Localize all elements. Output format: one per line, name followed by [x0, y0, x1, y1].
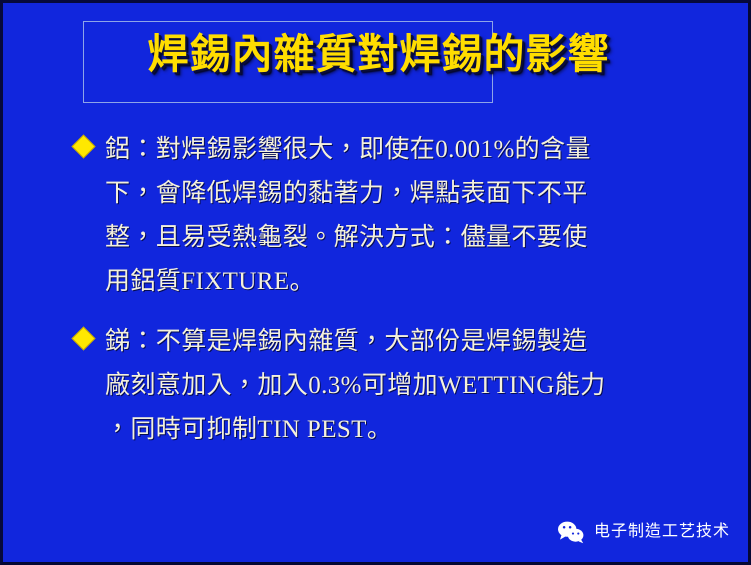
bullet-line: 銻：不算是焊錫內雜質，大部份是焊錫製造 [105, 320, 715, 364]
bullet-item-antimony: 銻：不算是焊錫內雜質，大部份是焊錫製造 廠刻意加入，加入0.3%可增加WETTI… [75, 320, 715, 452]
bullet-item-aluminium: 鋁：對焊錫影響很大，即使在0.001%的含量 下，會降低焊錫的黏著力，焊點表面下… [75, 128, 715, 304]
slide-body: 鋁：對焊錫影響很大，即使在0.001%的含量 下，會降低焊錫的黏著力，焊點表面下… [75, 128, 715, 468]
bullet-line: 下，會降低焊錫的黏著力，焊點表面下不平 [105, 172, 715, 216]
bullet-line: ，同時可抑制TIN PEST。 [105, 408, 715, 452]
bullet-text-aluminium: 鋁：對焊錫影響很大，即使在0.001%的含量 下，會降低焊錫的黏著力，焊點表面下… [105, 128, 715, 304]
bullet-line: 鋁：對焊錫影響很大，即使在0.001%的含量 [105, 128, 715, 172]
bullet-line: 整，且易受熱龜裂。解決方式：儘量不要使 [105, 216, 715, 260]
bullet-text-antimony: 銻：不算是焊錫內雜質，大部份是焊錫製造 廠刻意加入，加入0.3%可增加WETTI… [105, 320, 715, 452]
diamond-icon [71, 326, 95, 350]
watermark: 电子制造工艺技术 [557, 520, 730, 544]
presentation-slide: 焊錫內雜質對焊錫的影響 鋁：對焊錫影響很大，即使在0.001%的含量 下，會降低… [0, 0, 751, 565]
bullet-line: 用鋁質FIXTURE。 [105, 260, 715, 304]
watermark-label: 电子制造工艺技术 [594, 522, 730, 542]
page-title: 焊錫內雜質對焊錫的影響 [3, 28, 751, 80]
bullet-line: 廠刻意加入，加入0.3%可增加WETTING能力 [105, 364, 715, 408]
diamond-icon [71, 134, 95, 158]
wechat-logo-icon [557, 520, 585, 544]
